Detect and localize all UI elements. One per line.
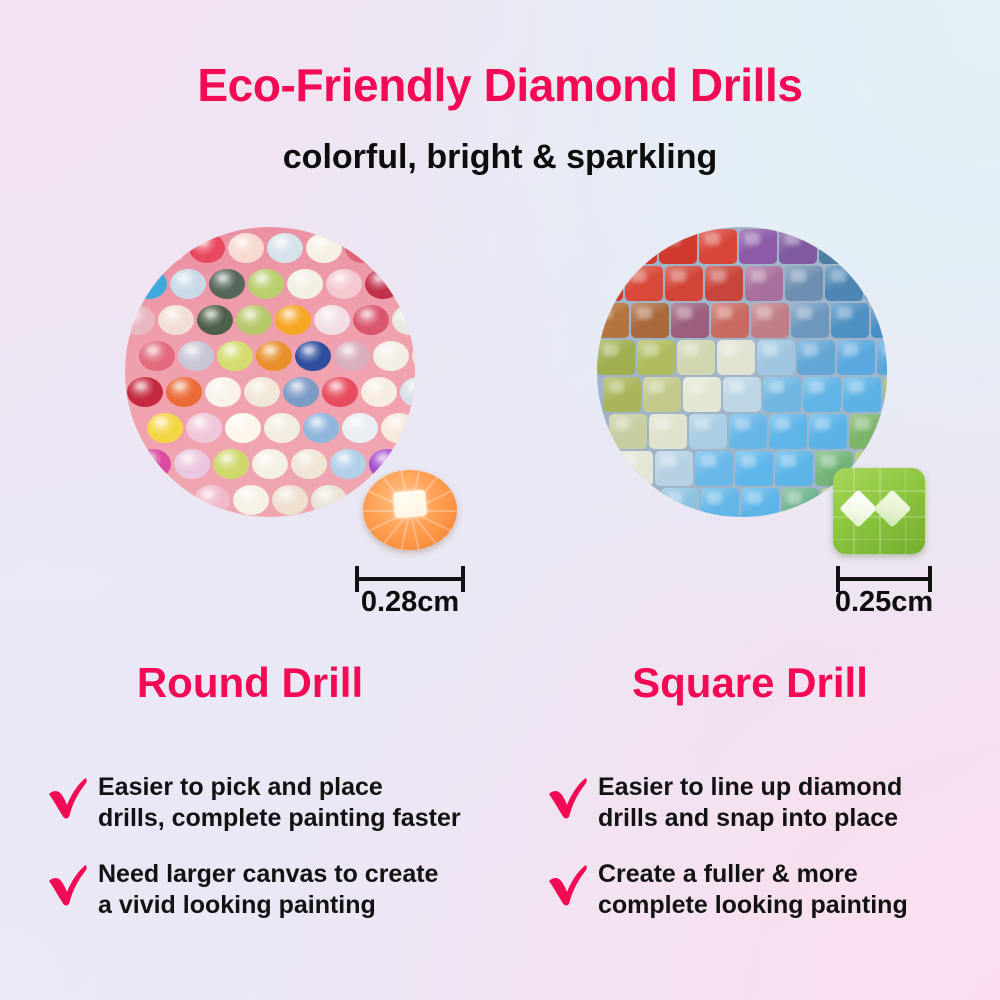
gem-table-highlight [393,489,427,517]
green-square-drill-gem [833,468,925,554]
drill-bead [135,449,171,479]
drill-square [683,377,721,412]
list-item-label: Create a fuller & more complete looking … [598,859,908,920]
drill-square [803,377,841,412]
drill-square [779,229,817,264]
drill-bead [373,341,409,371]
drill-square [643,377,681,412]
drill-square [797,340,835,375]
list-item: Need larger canvas to create a vivid loo… [0,859,500,920]
checkmark-icon [546,774,590,822]
drill-square [717,340,755,375]
drill-bead [150,233,186,263]
drill-bead [256,341,292,371]
drill-bead [127,377,163,407]
drill-square [603,377,641,412]
drill-square [659,229,697,264]
drill-square [621,488,659,517]
drill-bead [248,269,284,299]
drill-bead [131,269,167,299]
drill-square [883,377,887,412]
drill-square [619,229,657,264]
drill-square [763,377,801,412]
drill-square [615,451,653,486]
drill-square [661,488,699,517]
drill-bead [314,305,350,335]
drill-square [671,303,709,338]
drill-square [705,266,743,301]
list-item: Create a fuller & more complete looking … [500,859,1000,920]
drill-square [745,266,783,301]
drill-square [649,414,687,449]
drill-square [655,451,693,486]
drill-bead [228,233,264,263]
drill-bead [236,305,272,335]
section-heading-square-drill: Square Drill [500,662,1000,704]
drill-bead [233,485,269,515]
drill-bead [213,449,249,479]
drill-square [871,303,887,338]
page-subtitle: colorful, bright & sparkling [0,140,1000,174]
drill-bead [252,449,288,479]
drill-bead [217,341,253,371]
drill-square [849,414,887,449]
checkmark-icon [46,861,90,909]
drill-bead [147,413,183,443]
drill-bead [170,269,206,299]
drill-bead [209,269,245,299]
orange-round-drill-gem [363,470,457,550]
drill-square [819,229,857,264]
drill-square [699,229,737,264]
drill-bead [189,233,225,263]
list-item-label: Easier to line up diamond drills and sna… [598,772,902,833]
drill-square [831,303,869,338]
drill-square [843,377,881,412]
drill-bead [322,377,358,407]
drill-bead [244,377,280,407]
drill-bead [225,413,261,443]
drill-bead [326,269,362,299]
drill-bead [283,377,319,407]
drill-bead [178,341,214,371]
square-drill-feature-list: Easier to line up diamond drills and sna… [500,772,1000,946]
measure-line-icon [355,577,465,581]
gem-facet-highlight [839,489,877,527]
drill-square [597,340,635,375]
drill-square [665,266,703,301]
drill-square [711,303,749,338]
list-item: Easier to line up diamond drills and sna… [500,772,1000,833]
drill-square [859,229,887,264]
drill-square [735,451,773,486]
drill-bead [303,413,339,443]
drill-square [631,303,669,338]
section-heading-round-drill: Round Drill [0,662,500,704]
drill-bead [194,485,230,515]
drill-square [825,266,863,301]
drill-bead [166,377,202,407]
drill-bead [330,449,366,479]
drill-square [625,266,663,301]
drill-square [695,451,733,486]
drill-bead [334,341,370,371]
drill-bead [264,413,300,443]
drill-bead [158,305,194,335]
drill-square [723,377,761,412]
drill-square [677,340,715,375]
drill-square [781,488,819,517]
round-drills-photo [125,227,415,517]
drill-bead [197,305,233,335]
drill-square [729,414,767,449]
drill-bead [361,377,397,407]
drill-bead [384,233,415,263]
list-item-label: Need larger canvas to create a vivid loo… [98,859,438,920]
drill-bead [306,233,342,263]
drill-bead [174,449,210,479]
list-item: Easier to pick and place drills, complet… [0,772,500,833]
drill-bead [139,341,175,371]
drill-square [809,414,847,449]
round-drill-size-label: 0.28cm [305,588,515,617]
drill-bead [155,485,191,515]
drill-bead [205,377,241,407]
drill-square [701,488,739,517]
drill-bead [295,341,331,371]
drill-square [609,414,647,449]
drill-square [689,414,727,449]
drill-square [877,340,887,375]
drill-square [785,266,823,301]
drill-square [597,266,623,301]
drill-square [751,303,789,338]
drill-square [637,340,675,375]
list-item-label: Easier to pick and place drills, complet… [98,772,461,833]
checkmark-icon [546,861,590,909]
drill-bead [342,413,378,443]
checkmark-icon [46,774,90,822]
drill-bead [381,413,415,443]
drill-square [775,451,813,486]
drill-bead [345,233,381,263]
page-title: Eco-Friendly Diamond Drills [0,62,1000,108]
drill-square [757,340,795,375]
drill-bead [272,485,308,515]
drill-bead [275,305,311,335]
drill-bead [291,449,327,479]
drill-bead [365,269,401,299]
drill-bead [353,305,389,335]
drill-square [837,340,875,375]
square-drill-size-label: 0.25cm [784,588,984,617]
drill-square [791,303,829,338]
drill-bead [311,485,347,515]
drill-square [865,266,887,301]
drill-square [597,229,617,264]
round-drill-feature-list: Easier to pick and place drills, complet… [0,772,500,946]
drill-bead [186,413,222,443]
infographic-page: Eco-Friendly Diamond Drills colorful, br… [0,0,1000,1000]
drill-square [739,229,777,264]
drill-square [741,488,779,517]
measure-line-icon [836,577,932,581]
drill-bead [287,269,323,299]
drill-bead [267,233,303,263]
drill-square [769,414,807,449]
drill-square [597,303,629,338]
